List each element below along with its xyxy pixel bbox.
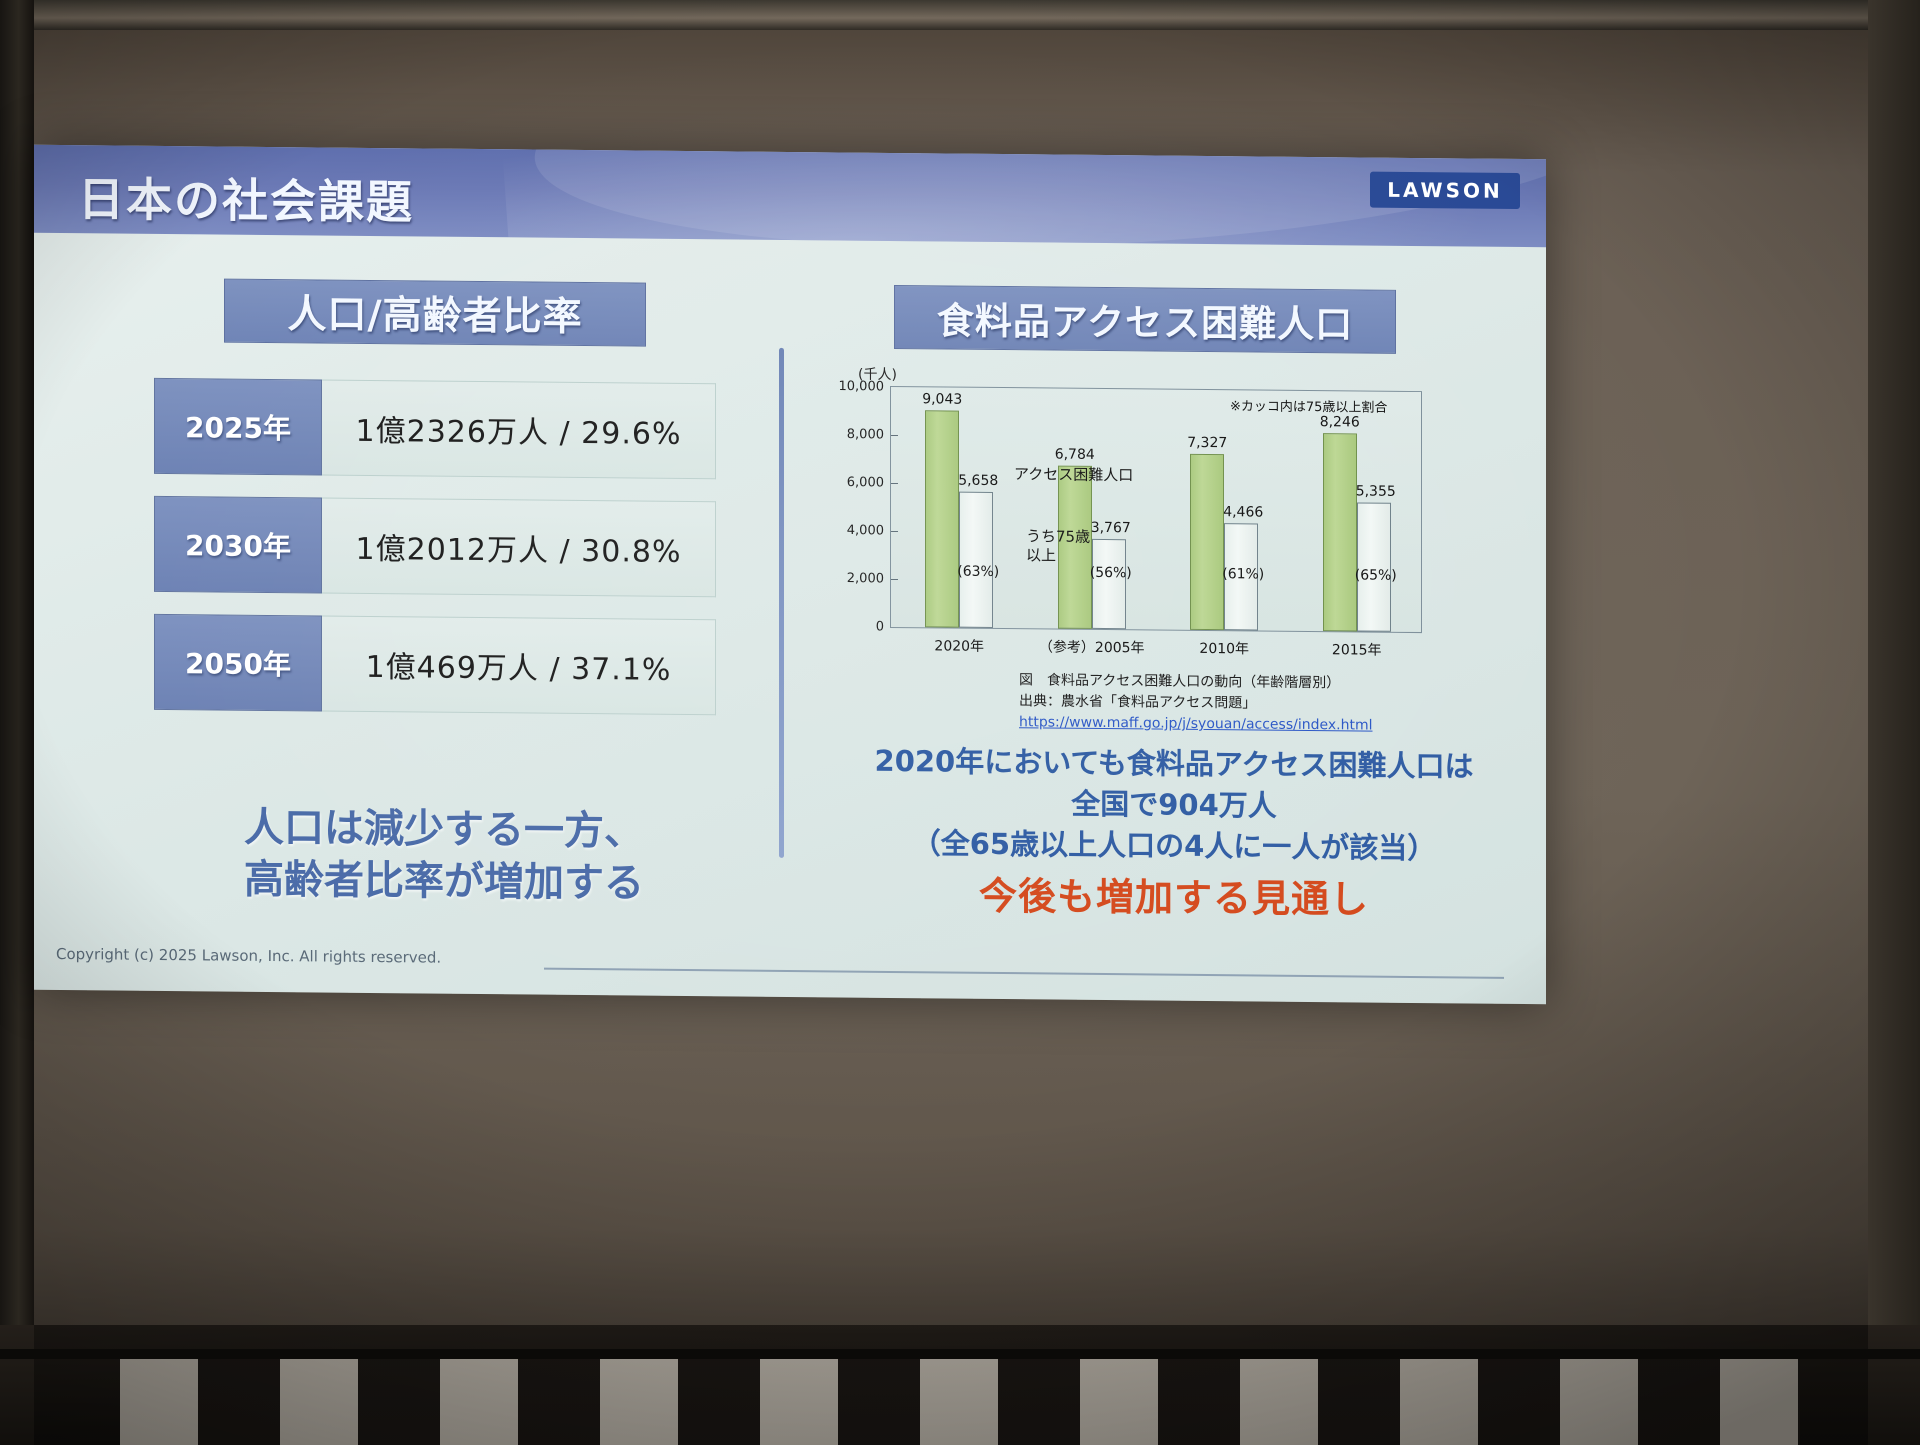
chart-bar-value-over75: 3,767 [1091,519,1131,535]
population-table: 2025年 1億2326万人 / 29.6% 2030年 1億2012万人 / … [154,378,716,737]
table-cell-value-label: 1億2326万人 / 29.6% [356,406,682,453]
chart-bar-value-over75: 5,658 [958,473,998,489]
wall-left-column [0,0,34,1445]
chart-bar-value-over75: 5,355 [1356,484,1396,500]
chart-bar-value-over75: 4,466 [1223,504,1263,520]
table-row: 2050年 1億469万人 / 37.1% [154,614,716,715]
chart-bar-value-total: 6,784 [1055,447,1095,463]
population-summary-line1: 人口は減少する一方、 [184,801,704,858]
table-cell-year-label: 2025年 [185,406,291,447]
table-cell-year: 2050年 [154,614,322,712]
table-cell-year-label: 2050年 [185,642,291,683]
food-access-chart: (千人) 10,0008,0006,0004,0002,00009,0435,6… [834,367,1434,673]
projected-slide: 日本の社会課題 LAWSON 人口/高齢者比率 食料品アクセス困難人口 2025… [34,145,1546,1005]
chart-note: ※カッコ内は75歳以上割合 [1230,395,1387,416]
chart-y-tick-mark [891,531,898,532]
population-summary: 人口は減少する一方、 高齢者比率が増加する [184,801,704,910]
chart-source-url[interactable]: https://www.maff.go.jp/j/syouan/access/i… [1019,712,1373,736]
chart-over75-share: (65%) [1355,567,1397,583]
chart-y-tick-mark [891,483,898,484]
chart-x-tick-label: 2010年 [1199,638,1249,658]
chart-y-tick-label: 8,000 [847,427,884,442]
chart-over75-share: (56%) [1090,565,1132,581]
section-title-population: 人口/高齢者比率 [224,279,646,347]
table-cell-value: 1億2012万人 / 30.8% [322,498,716,598]
floor-band [0,1325,1920,1445]
table-cell-value-label: 1億2012万人 / 30.8% [356,524,682,571]
chart-bar-over75 [959,492,993,628]
chart-y-tick-label: 4,000 [847,523,884,538]
chart-over75-share: (63%) [957,564,999,580]
food-access-summary-line1: 2020年においても食料品アクセス困難人口は [824,740,1524,788]
table-cell-year-label: 2030年 [185,524,291,565]
food-access-summary-line3: （全65歳以上人口の4人に一人が該当） [824,823,1524,871]
table-cell-year: 2025年 [154,378,322,476]
chart-bar-value-total: 8,246 [1320,414,1360,430]
chart-series-label-total: アクセス困難人口 [1014,465,1133,485]
page-title: 日本の社会課題 [78,163,414,232]
section-title-food-access-label: 食料品アクセス困難人口 [937,290,1353,348]
screenshot-stage: 日本の社会課題 LAWSON 人口/高齢者比率 食料品アクセス困難人口 2025… [0,0,1920,1445]
chart-y-tick-label: 6,000 [847,475,884,490]
chart-bar-over75 [1092,538,1126,629]
chart-y-tick-label: 2,000 [847,571,884,586]
chart-series-label-over75: うち75歳 以上 [1026,527,1090,565]
population-summary-line2: 高齢者比率が増加する [184,853,704,910]
table-cell-value-label: 1億469万人 / 37.1% [366,642,672,689]
chart-x-tick-label: 2020年 [934,635,984,655]
vertical-divider [779,348,784,858]
wall-right-column [1868,0,1920,1445]
chart-source: 図 食料品アクセス困難人口の動向（年齢階層別） 出典：農水省「食料品アクセス問題… [1019,670,1373,736]
projection-screen-top-bar [34,0,1868,30]
section-title-population-label: 人口/高齢者比率 [287,283,582,342]
table-cell-year: 2030年 [154,496,322,594]
chart-y-tick-mark [891,435,898,436]
chart-bar-total [1323,433,1357,631]
chart-bar-total [925,410,959,627]
table-cell-value: 1億469万人 / 37.1% [322,616,716,716]
chart-x-tick-label: （参考）2005年 [1039,636,1145,657]
food-access-summary-line2: 全国で904万人 [824,781,1524,829]
slide-header: 日本の社会課題 LAWSON [34,145,1546,248]
chart-y-tick-label: 10,000 [839,379,885,394]
chart-y-tick-label: 0 [876,619,884,634]
table-row: 2025年 1億2326万人 / 29.6% [154,378,716,479]
food-access-summary-highlight: 今後も増加する見通し [824,868,1524,929]
footer-divider [544,968,1504,979]
chart-y-tick-mark [891,579,898,580]
chart-bar-total [1190,454,1224,630]
lawson-logo: LAWSON [1370,172,1520,209]
lawson-logo-text: LAWSON [1387,178,1503,203]
chart-bar-value-total: 9,043 [922,391,962,407]
copyright-text: Copyright (c) 2025 Lawson, Inc. All righ… [56,945,441,967]
food-access-summary: 2020年においても食料品アクセス困難人口は 全国で904万人 （全65歳以上人… [824,740,1524,928]
table-cell-value: 1億2326万人 / 29.6% [322,380,716,480]
chart-bar-value-total: 7,327 [1187,435,1227,451]
chart-x-tick-label: 2015年 [1332,639,1382,659]
chart-plot-area: 10,0008,0006,0004,0002,00009,0435,658(63… [890,386,1422,633]
chart-over75-share: (61%) [1222,566,1264,582]
table-row: 2030年 1億2012万人 / 30.8% [154,496,716,597]
section-title-food-access: 食料品アクセス困難人口 [894,285,1396,354]
